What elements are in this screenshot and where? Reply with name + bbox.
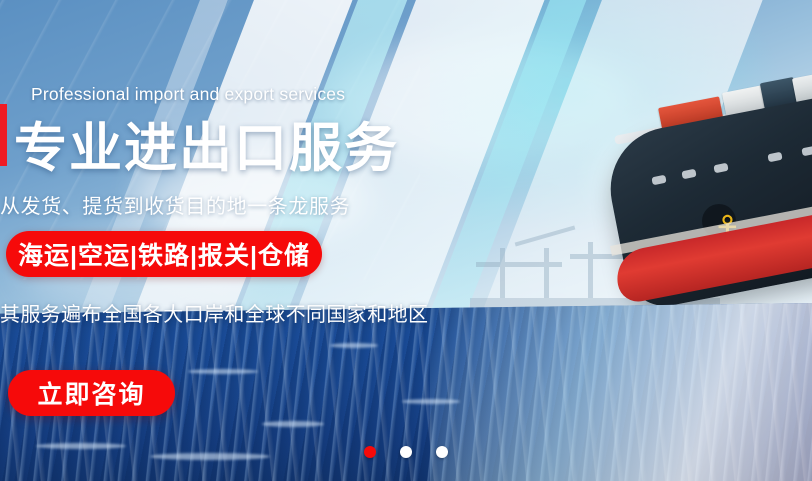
carousel-dot-1[interactable] [364, 446, 376, 458]
hero-banner: ⚓ Professional import and export service… [0, 0, 812, 481]
hero-copy: Professional import and export services … [0, 0, 420, 481]
accent-bar [0, 104, 7, 166]
page-title: 专业进出口服务 [14, 106, 399, 182]
consult-now-button[interactable]: 立即咨询 [8, 370, 175, 416]
carousel-dots [0, 446, 812, 458]
hero-subline: 从发货、提货到收货目的地一条龙服务 [0, 190, 350, 219]
consult-now-label: 立即咨询 [37, 375, 145, 411]
services-badge-label: 海运|空运|铁路|报关|仓储 [18, 236, 310, 272]
carousel-dot-2[interactable] [400, 446, 412, 458]
carousel-dot-3[interactable] [436, 446, 448, 458]
coverage-line: 其服务遍布全国各大口岸和全球不同国家和地区 [0, 298, 428, 327]
hero-eyebrow: Professional import and export services [31, 84, 345, 105]
hull-fitting [801, 146, 812, 157]
services-badge: 海运|空运|铁路|报关|仓储 [6, 231, 322, 277]
